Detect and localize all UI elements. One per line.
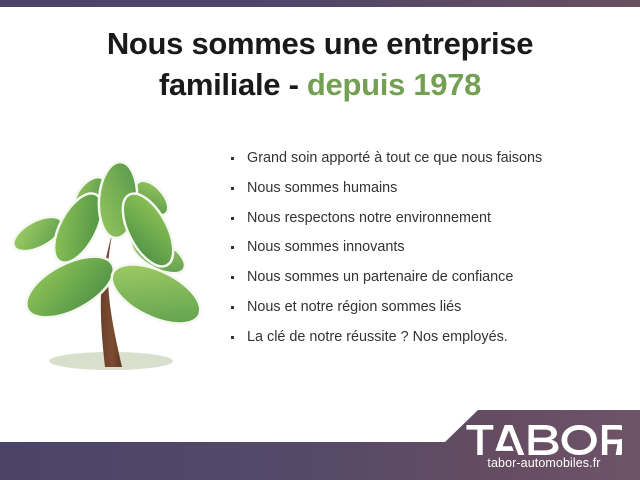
list-item-label: Nous respectons notre environnement — [247, 210, 491, 226]
bullet-dot-icon — [231, 276, 234, 279]
list-item-label: La clé de notre réussite ? Nos employés. — [247, 329, 508, 345]
headline-line-1: Nous sommes une entreprise — [107, 26, 533, 61]
bullet-dot-icon — [231, 187, 234, 190]
tabor-wordmark-icon — [466, 425, 622, 455]
footer-band: tabor-automobiles.fr — [0, 400, 640, 480]
tree-logo-icon — [8, 152, 220, 384]
bullet-dot-icon — [231, 157, 234, 160]
tree-illustration — [8, 152, 220, 384]
list-item: Nous sommes innovants — [228, 239, 628, 256]
bullet-dot-icon — [231, 217, 234, 220]
list-item: Grand soin apporté à tout ce que nous fa… — [228, 150, 628, 167]
headline-accent-year: depuis 1978 — [307, 67, 481, 102]
list-item-label: Nous sommes humains — [247, 180, 397, 196]
bullet-dot-icon — [231, 336, 234, 339]
list-item: Nous et notre région sommes liés — [228, 299, 628, 316]
list-item-label: Nous sommes innovants — [247, 239, 405, 255]
list-item-label: Nous et notre région sommes liés — [247, 299, 461, 315]
list-item-label: Grand soin apporté à tout ce que nous fa… — [247, 150, 542, 166]
bullet-dot-icon — [231, 306, 234, 309]
list-item: Nous sommes humains — [228, 180, 628, 197]
slide-canvas: Nous sommes une entreprise familiale - d… — [0, 0, 640, 480]
list-item-label: Nous sommes un partenaire de confiance — [247, 269, 513, 285]
page-title: Nous sommes une entreprise familiale - d… — [0, 24, 640, 106]
list-item: Nous sommes un partenaire de confiance — [228, 269, 628, 286]
bullet-dot-icon — [231, 246, 234, 249]
list-item: La clé de notre réussite ? Nos employés. — [228, 329, 628, 346]
list-item: Nous respectons notre environnement — [228, 210, 628, 227]
value-list: Grand soin apporté à tout ce que nous fa… — [228, 150, 628, 358]
headline-line-2-prefix: familiale - — [159, 67, 307, 102]
brand-tagline: tabor-automobiles.fr — [460, 457, 628, 470]
brand-logo[interactable]: tabor-automobiles.fr — [460, 425, 628, 470]
top-accent-bar — [0, 0, 640, 7]
